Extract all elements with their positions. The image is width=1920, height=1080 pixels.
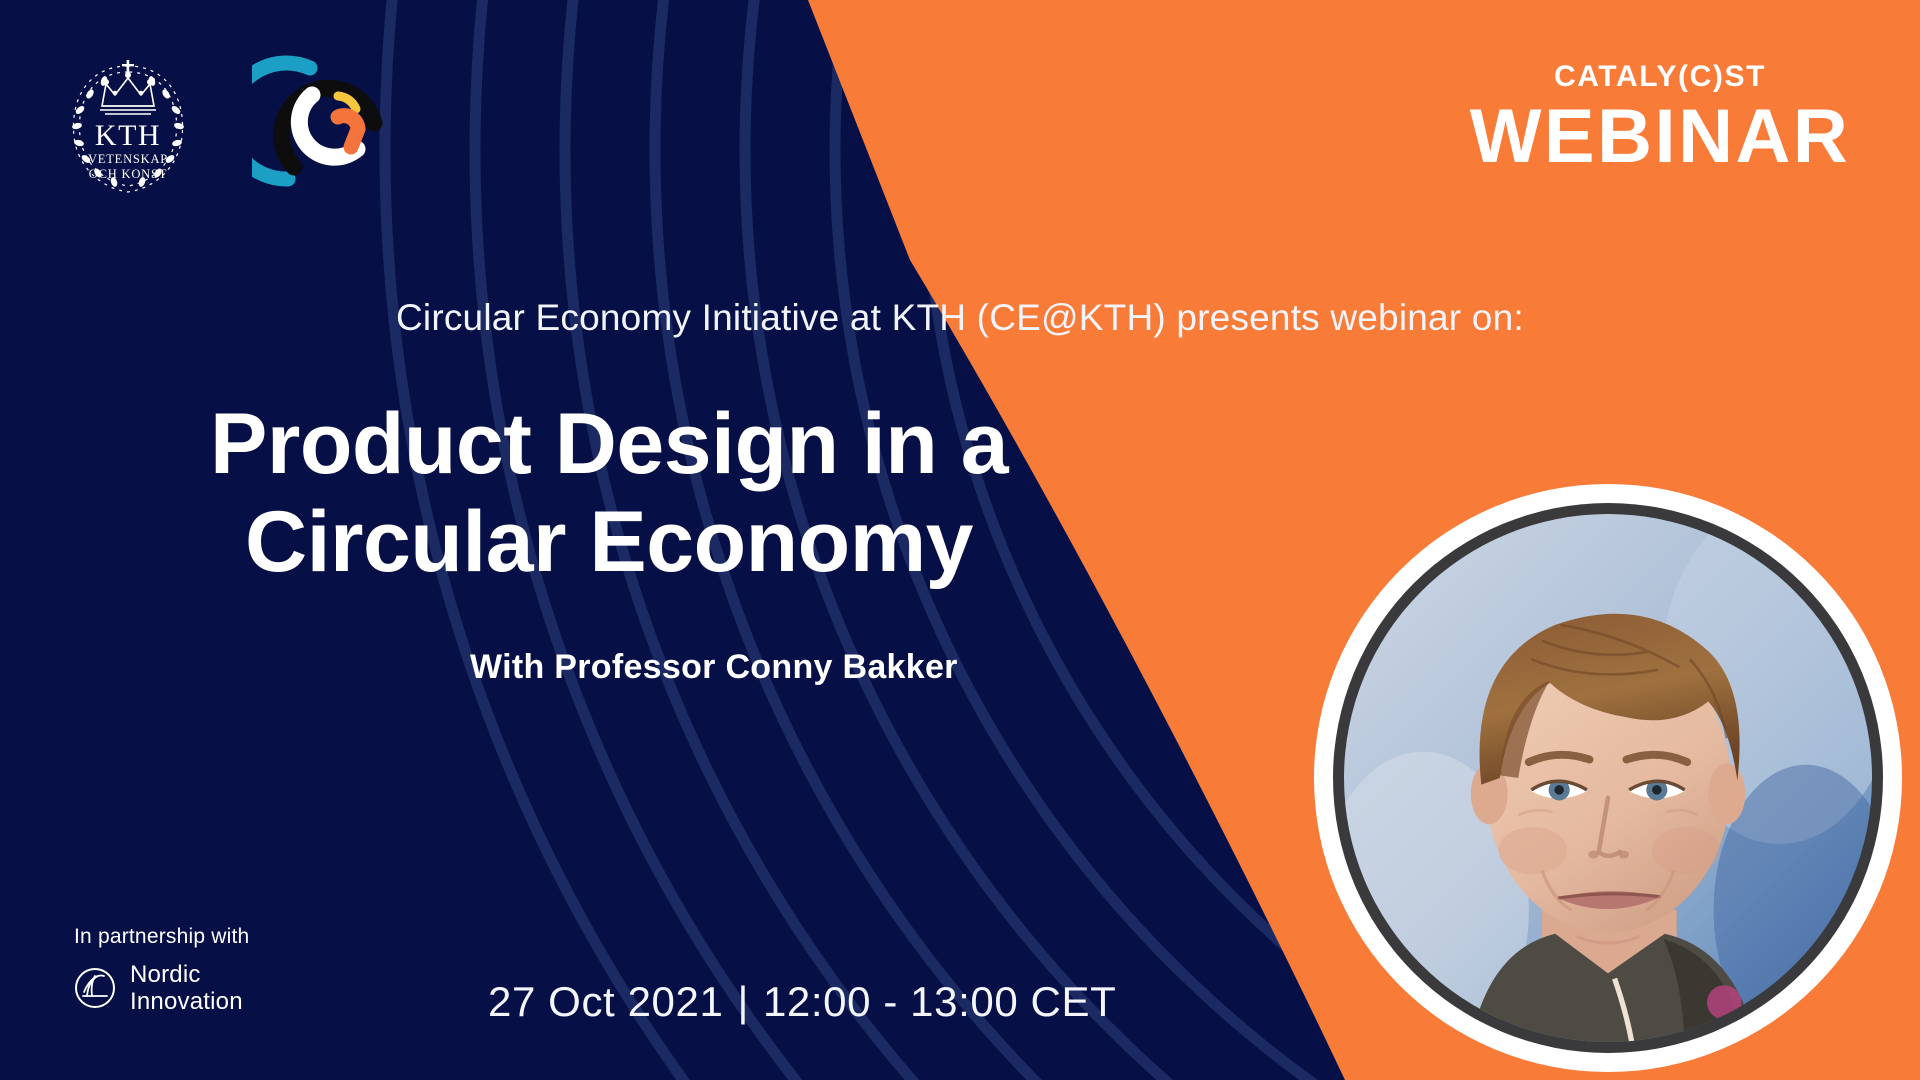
webinar-poster: KTH VETENSKAP OCH KONST CATALY(C)ST WEBI… (0, 0, 1920, 1080)
webinar-kicker: CATALY(C)ST (1400, 60, 1920, 93)
portrait-illustration (1344, 514, 1872, 1042)
webinar-heading: WEBINAR (1400, 99, 1920, 175)
kth-motto-line1: VETENSKAP (88, 152, 168, 166)
nordic-line-2: Innovation (130, 988, 243, 1015)
schedule-line: 27 Oct 2021|12:00 - 13:00 CET (488, 978, 1116, 1026)
kth-wordmark: KTH (95, 119, 161, 152)
partnership-block: In partnership with Nordic Innovation (74, 925, 249, 1016)
kth-logo: KTH VETENSKAP OCH KONST (62, 48, 194, 198)
portrait-photo (1344, 514, 1872, 1042)
schedule-date: 27 Oct 2021 (488, 978, 723, 1025)
page-title: Product Design in a Circular Economy (200, 395, 1210, 591)
schedule-time: 12:00 - 13:00 CET (763, 978, 1116, 1025)
speaker-line: With Professor Conny Bakker (470, 648, 958, 687)
presents-line: Circular Economy Initiative at KTH (CE@K… (396, 297, 1524, 339)
header-block: CATALY(C)ST WEBINAR (1400, 60, 1920, 175)
speaker-portrait (1314, 484, 1902, 1072)
logo-row: KTH VETENSKAP OCH KONST (62, 48, 396, 198)
title-line-1: Product Design in a (210, 395, 1210, 493)
nordic-innovation-mark-icon (74, 967, 116, 1009)
kth-motto-line2: OCH KONST (89, 167, 167, 181)
schedule-separator: | (723, 978, 763, 1025)
nordic-innovation-logo: Nordic Innovation (74, 961, 249, 1016)
nordic-innovation-wordmark: Nordic Innovation (130, 961, 243, 1016)
partnership-label: In partnership with (74, 925, 249, 949)
nordic-line-1: Nordic (130, 961, 243, 988)
catalyst-logo (252, 51, 396, 195)
title-line-2: Circular Economy (245, 493, 1210, 591)
